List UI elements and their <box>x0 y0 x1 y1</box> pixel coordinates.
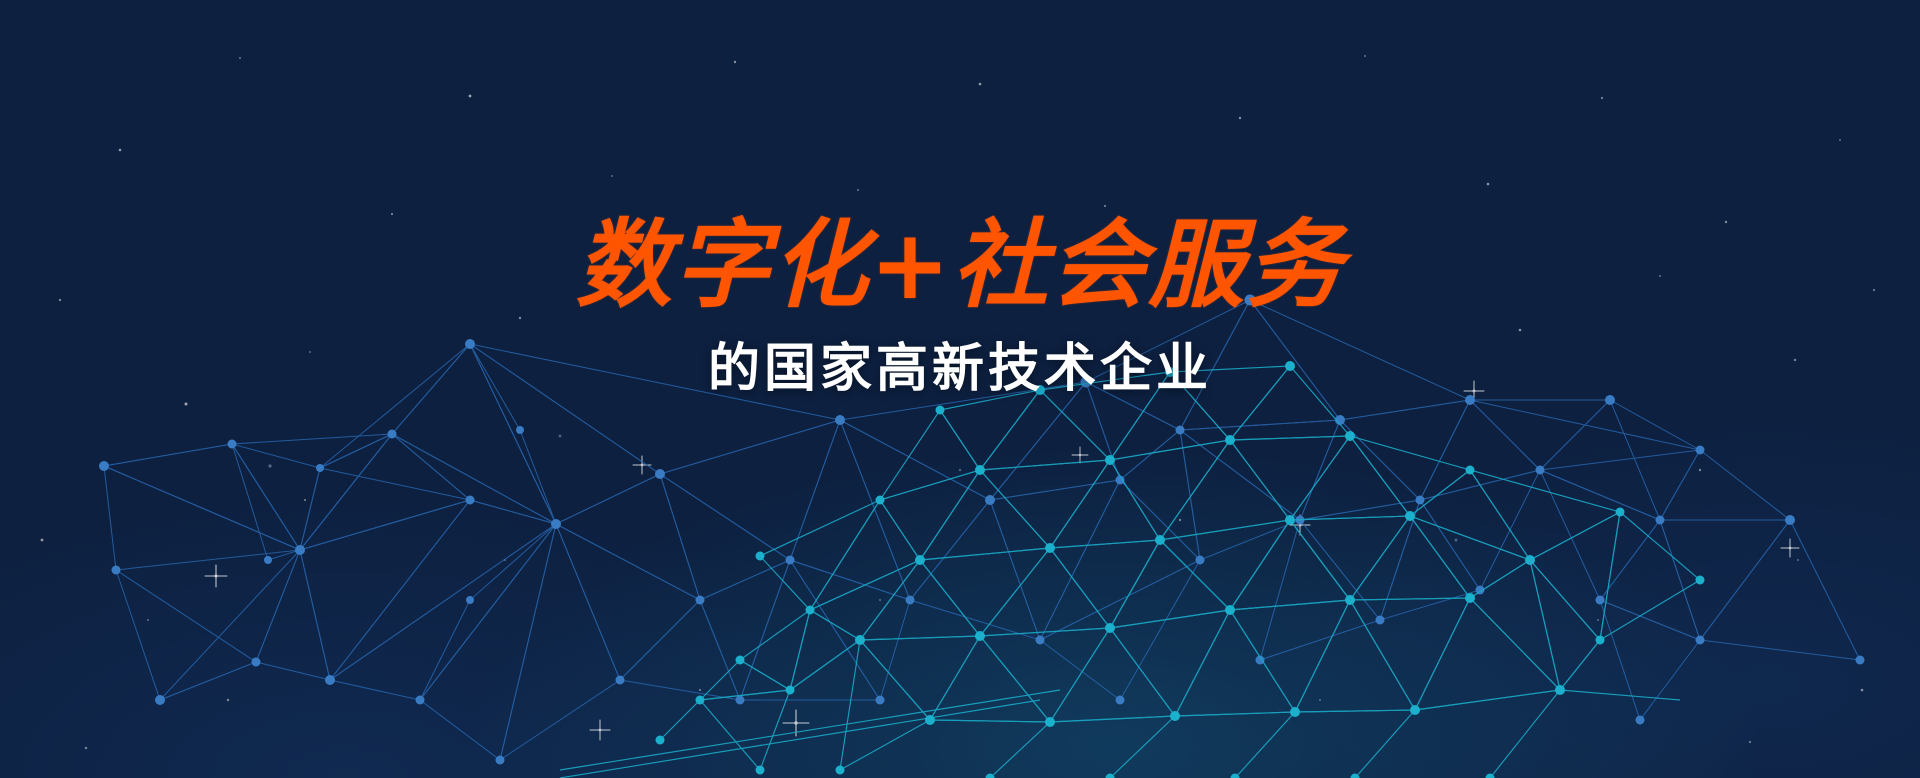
page-subtitle: 的国家高新技术企业 <box>0 338 1920 400</box>
hero-text-block: 数字化+社会服务 的国家高新技术企业 <box>0 215 1920 400</box>
hero-banner: 数字化+社会服务 的国家高新技术企业 <box>0 0 1920 778</box>
page-title: 数字化+社会服务 <box>0 215 1920 316</box>
